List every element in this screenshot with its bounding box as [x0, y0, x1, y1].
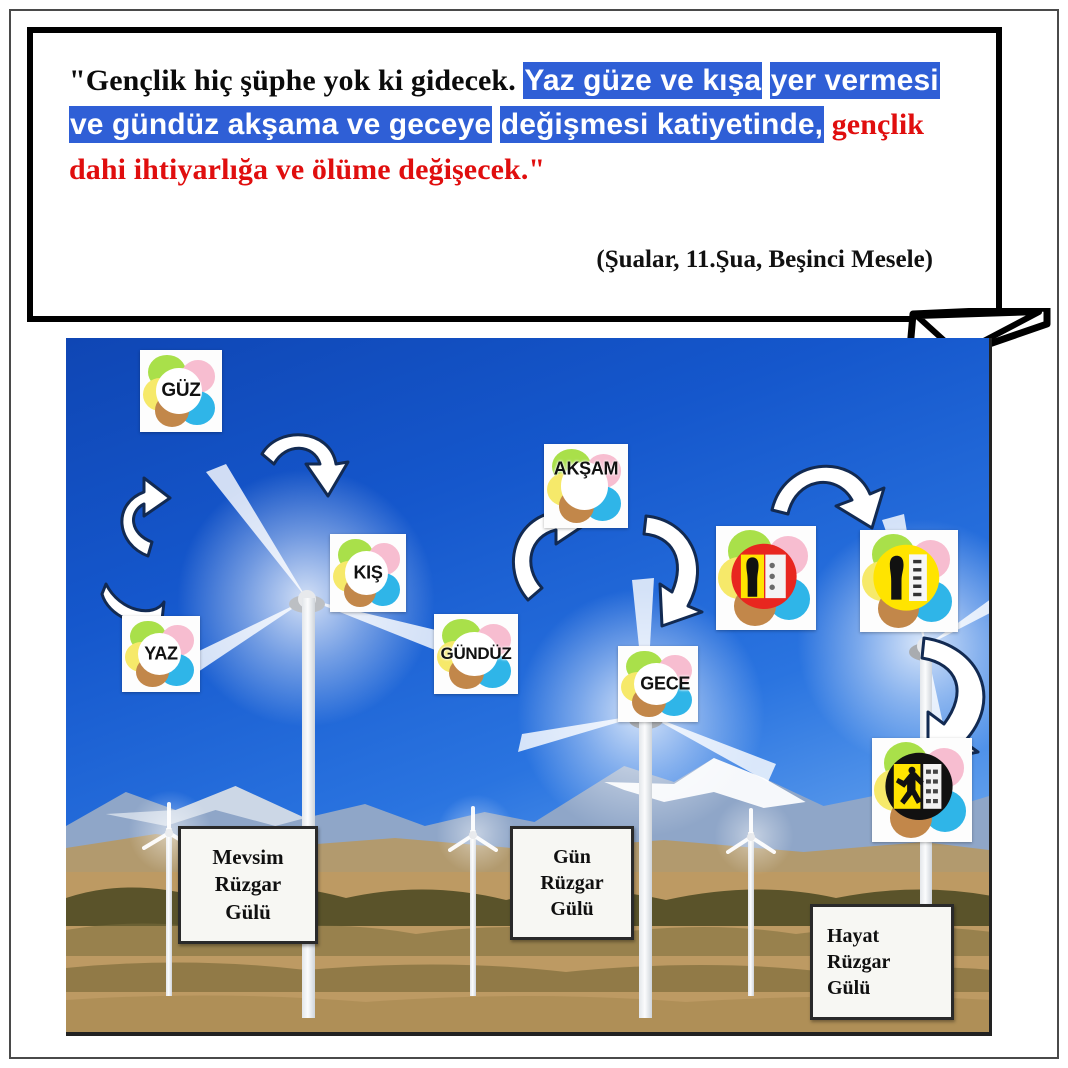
sign-mevsim[interactable]: Mevsim Rüzgar Gülü — [178, 826, 318, 944]
sign-mevsim-line-2: Rüzgar — [215, 871, 282, 898]
chip-yaz[interactable]: YAZ — [122, 616, 200, 692]
quote-citation: (Şualar, 11.Şua, Beşinci Mesele) — [33, 246, 933, 274]
sign-hayat-line-2: Rüzgar — [827, 949, 890, 975]
quote-highlight-3: değişmesi katiyetinde, — [500, 106, 824, 143]
sign-gun-line-1: Gün — [553, 844, 591, 870]
wind-farm-photo: GÜZ KIŞ YAZ — [66, 338, 992, 1036]
chip-guz-label: GÜZ — [140, 380, 222, 402]
sign-gun[interactable]: Gün Rüzgar Gülü — [510, 826, 634, 940]
chip-youth-red[interactable] — [716, 526, 816, 630]
sign-hayat-line-1: Hayat — [827, 923, 879, 949]
arrow-curve-up-left — [100, 464, 172, 564]
standing-person-yellow-sign-icon — [872, 542, 941, 613]
sign-gun-line-3: Gülü — [550, 896, 593, 922]
quote-red-2: ölüme değişecek." — [312, 153, 545, 186]
sign-gun-line-2: Rüzgar — [540, 870, 603, 896]
chip-kis-label: KIŞ — [330, 563, 406, 584]
quote-line-black-1: "Gençlik hiç şüphe yok ki gidecek. — [69, 64, 516, 97]
chip-gunduz-label: GÜNDÜZ — [434, 644, 518, 664]
walking-person-exit-sign-icon — [884, 750, 954, 823]
turbine-glow-bg-2 — [436, 794, 516, 874]
arrow-arc-right-top — [766, 448, 892, 534]
chip-yaz-label: YAZ — [122, 644, 200, 665]
quote-callout: "Gençlik hiç şüphe yok ki gidecek. Yaz g… — [27, 27, 1030, 329]
chip-adult-yellow[interactable] — [860, 530, 958, 632]
chip-exit-black[interactable] — [872, 738, 972, 842]
chip-guz[interactable]: GÜZ — [140, 350, 222, 432]
chip-gunduz[interactable]: GÜNDÜZ — [434, 614, 518, 694]
chip-gece-label: GECE — [632, 674, 698, 695]
chip-aksam-label: AKŞAM — [544, 459, 628, 480]
standing-person-red-sign-icon — [730, 541, 798, 612]
quote-text: "Gençlik hiç şüphe yok ki gidecek. Yaz g… — [69, 59, 979, 192]
main-turbine-tower-2 — [639, 718, 652, 1018]
sign-mevsim-line-1: Mevsim — [212, 844, 283, 871]
quote-bubble-box: "Gençlik hiç şüphe yok ki gidecek. Yaz g… — [27, 27, 1002, 322]
arrow-curve-down-center — [626, 510, 722, 628]
sign-mevsim-line-3: Gülü — [225, 899, 271, 926]
chip-kis[interactable]: KIŞ — [330, 534, 406, 612]
quote-highlight-1: Yaz güze ve kışa — [523, 62, 762, 99]
sign-hayat-line-3: Gülü — [827, 975, 870, 1001]
chip-gece[interactable]: GECE — [618, 646, 698, 722]
sign-hayat[interactable]: Hayat Rüzgar Gülü — [810, 904, 954, 1020]
main-turbine-tower-1 — [302, 598, 315, 1018]
chip-aksam[interactable]: AKŞAM — [544, 444, 628, 528]
page-root: "Gençlik hiç şüphe yok ki gidecek. Yaz g… — [0, 0, 1068, 1068]
arrow-curve-down-right — [256, 420, 356, 518]
